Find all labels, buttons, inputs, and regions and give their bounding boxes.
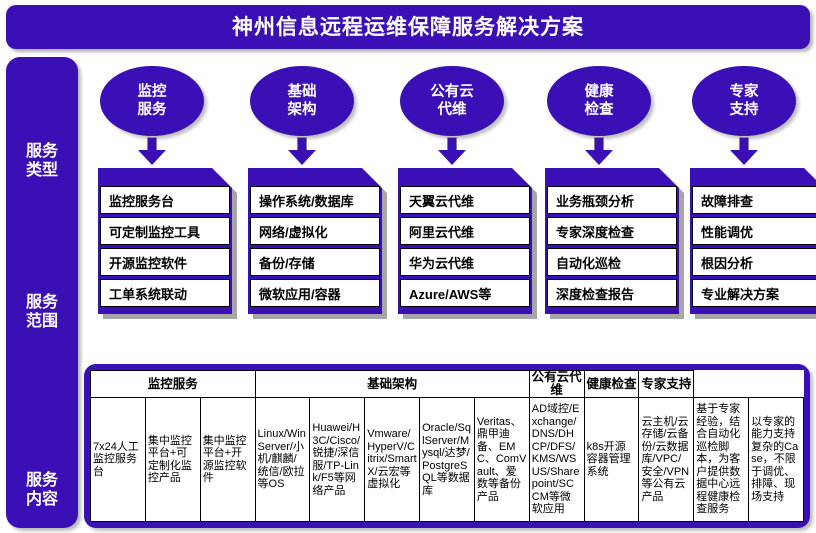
service-type-ellipse-3[interactable]: 公有云代维 [400,66,504,136]
service-content-cell: 集中监控平台+可定制化监控产品 [145,398,200,522]
service-content-cell: Vmware/HyperV/Citrix/SmartX/云宏等虚拟化 [365,398,420,522]
sidebar: 服务 类型 服务 范围 服务 内容 [6,57,78,528]
scope-group-body: 监控服务台可定制监控工具开源监控软件工单系统联动 [98,168,232,314]
service-type-label-line1: 专家 [730,83,759,101]
down-arrow-icon-3 [438,137,466,165]
service-content-cell: 以专家的能力支持复杂的Case，不限于调优、排障、现场支持 [749,398,804,522]
down-arrow-icon-5 [730,137,758,165]
service-type-ellipse-1[interactable]: 监控服务 [100,66,204,136]
scope-item[interactable]: 天翼云代维 [400,186,530,214]
service-scope-group-1: 监控服务台可定制监控工具开源监控软件工单系统联动 [98,168,232,314]
service-content-cell: Oracle/SqlServer/Mysql/达梦/PostgreSQL等数据库 [420,398,475,522]
sidebar-item-service-content: 服务 内容 [6,471,78,509]
service-type-label-line1: 监控 [138,83,167,101]
service-content-table: 监控服务基础架构公有云代维健康检查专家支持 7x24人工监控服务台集中监控平台+… [90,370,804,522]
service-content-cell: AD域控/Exchange/DNS/DHCP/DFS/KMS/WSUS/Shar… [529,398,584,522]
service-content-header-cell: 专家支持 [639,371,694,398]
service-type-label-line2: 检查 [585,101,614,119]
down-arrow-icon-4 [585,137,613,165]
down-arrow-icon-1 [138,137,166,165]
service-content-header-row: 监控服务基础架构公有云代维健康检查专家支持 [91,371,804,398]
sidebar-item-service-type-line2: 类型 [6,161,78,180]
scope-item[interactable]: 专业解决方案 [692,279,816,307]
service-scope-group-2: 操作系统/数据库网络/虚拟化备份/存储微软应用/容器 [248,168,382,314]
scope-group-body: 操作系统/数据库网络/虚拟化备份/存储微软应用/容器 [248,168,382,314]
service-type-label-line1: 健康 [585,83,614,101]
scope-item[interactable]: 备份/存储 [250,248,380,276]
service-type-label-line1: 公有云 [430,83,474,101]
service-content-cell: Veritas、鼎甲迪备、EMC、ComVault、爱数等备份产品 [474,398,529,522]
sidebar-item-service-content-line2: 内容 [6,490,78,509]
service-content-header-cell: 监控服务 [91,371,256,398]
service-content-header-cell: 健康检查 [584,371,639,398]
scope-item[interactable]: 专家深度检查 [547,217,677,245]
service-scope-group-3: 天翼云代维阿里云代维华为云代维Azure/AWS等 [398,168,532,314]
service-type-label-line2: 代维 [438,101,467,119]
scope-item[interactable]: 阿里云代维 [400,217,530,245]
service-content-cell: 7x24人工监控服务台 [91,398,146,522]
sidebar-item-service-type: 服务 类型 [6,142,78,180]
scope-group-body: 天翼云代维阿里云代维华为云代维Azure/AWS等 [398,168,532,314]
service-type-label-line1: 基础 [288,83,317,101]
scope-item[interactable]: 开源监控软件 [100,248,230,276]
scope-item[interactable]: 可定制监控工具 [100,217,230,245]
service-content-cell: 云主机/云存储/云备份/云数据库/VPC/安全/VPN等公有云产品 [639,398,694,522]
scope-item[interactable]: 微软应用/容器 [250,279,380,307]
scope-item[interactable]: 网络/虚拟化 [250,217,380,245]
sidebar-item-service-content-line1: 服务 [6,471,78,490]
service-content-cell: Huawei/H3C/Cisco/锐捷/深信服/TP-Link/F5等网络产品 [310,398,365,522]
sidebar-item-service-type-line1: 服务 [6,142,78,161]
service-type-ellipse-2[interactable]: 基础架构 [250,66,354,136]
service-scope-group-5: 故障排查性能调优根因分析专业解决方案 [690,168,816,314]
scope-item[interactable]: 操作系统/数据库 [250,186,380,214]
scope-item[interactable]: 工单系统联动 [100,279,230,307]
service-type-label-line2: 服务 [138,101,167,119]
down-arrow-icon-2 [288,137,316,165]
service-content-panel: 监控服务基础架构公有云代维健康检查专家支持 7x24人工监控服务台集中监控平台+… [84,364,810,528]
service-type-ellipse-4[interactable]: 健康检查 [547,66,651,136]
service-content-cell: Linux/WinServer/小机/麒麟/统信/欧拉等OS [255,398,310,522]
scope-item[interactable]: 监控服务台 [100,186,230,214]
scope-item[interactable]: 业务瓶颈分析 [547,186,677,214]
service-type-label-line2: 支持 [730,101,759,119]
scope-group-body: 故障排查性能调优根因分析专业解决方案 [690,168,816,314]
service-type-label-line2: 架构 [288,101,317,119]
service-content-cell: 集中监控平台+开源监控软件 [200,398,255,522]
page-title-bar: 神州信息远程运维保障服务解决方案 [6,5,810,49]
service-scope-group-4: 业务瓶颈分析专家深度检查自动化巡检深度检查报告 [545,168,679,314]
scope-item[interactable]: 故障排查 [692,186,816,214]
sidebar-item-service-scope: 服务 范围 [6,293,78,331]
service-type-ellipse-5[interactable]: 专家支持 [692,66,796,136]
scope-item[interactable]: 深度检查报告 [547,279,677,307]
scope-item[interactable]: 华为云代维 [400,248,530,276]
scope-group-body: 业务瓶颈分析专家深度检查自动化巡检深度检查报告 [545,168,679,314]
page-title: 神州信息远程运维保障服务解决方案 [232,17,584,38]
service-content-body-row: 7x24人工监控服务台集中监控平台+可定制化监控产品集中监控平台+开源监控软件L… [91,398,804,522]
service-content-cell: k8s开源容器管理系统 [584,398,639,522]
slide-root: 神州信息远程运维保障服务解决方案 服务 类型 服务 范围 服务 内容 监控服务监… [0,0,816,533]
scope-item[interactable]: 性能调优 [692,217,816,245]
service-content-header-cell: 基础架构 [255,371,529,398]
scope-item[interactable]: Azure/AWS等 [400,279,530,307]
scope-item[interactable]: 自动化巡检 [547,248,677,276]
service-content-cell: 基于专家经验，结合自动化巡检脚本，为客户提供数据中心远程健康检查服务 [694,398,749,522]
sidebar-item-service-scope-line2: 范围 [6,312,78,331]
sidebar-item-service-scope-line1: 服务 [6,293,78,312]
scope-item[interactable]: 根因分析 [692,248,816,276]
service-content-header-cell: 公有云代维 [529,371,584,398]
